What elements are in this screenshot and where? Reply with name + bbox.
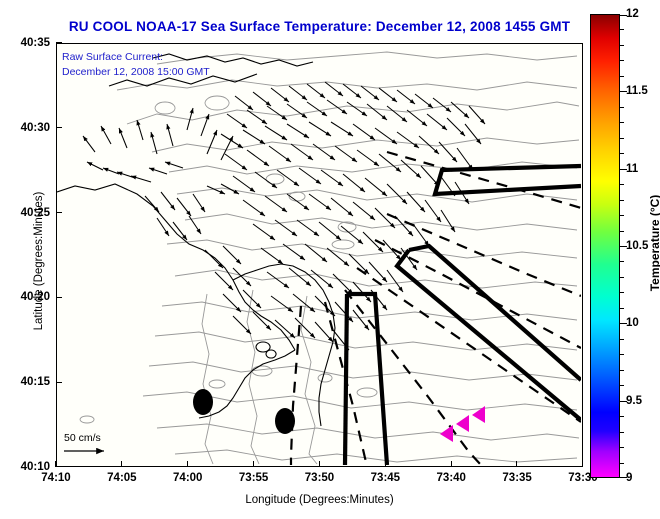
- colorbar-minor-tick: [620, 370, 624, 371]
- colorbar-minor-tick: [620, 122, 624, 123]
- y-tick-mark: [56, 127, 62, 128]
- coastline: [57, 54, 335, 426]
- annotation-line-1: Raw Surface Current:: [62, 50, 210, 65]
- colorbar-minor-tick: [620, 308, 624, 309]
- x-tick-mark: [451, 461, 452, 467]
- colorbar-tick-label: 9: [626, 472, 632, 484]
- magenta-triangle-1: [440, 425, 453, 442]
- x-tick-label: 73:55: [239, 472, 268, 484]
- station-dot-east: [275, 408, 295, 434]
- plot-annotation: Raw Surface Current: December 12, 2008 1…: [62, 50, 210, 80]
- y-tick-mark: [56, 382, 62, 383]
- colorbar-ticks: 1211.51110.5109.59: [590, 14, 620, 478]
- scale-bar-arrow-icon: [60, 444, 120, 458]
- colorbar-minor-tick: [620, 200, 624, 201]
- colorbar-minor-tick: [620, 385, 624, 386]
- x-tick-mark: [121, 461, 122, 467]
- page-title: RU COOL NOAA-17 Sea Surface Temperature:…: [56, 19, 583, 34]
- x-tick-mark: [319, 461, 320, 467]
- station-dot-west: [193, 389, 213, 415]
- bathymetry-contours: [80, 52, 579, 464]
- x-tick-label: 73:50: [305, 472, 334, 484]
- colorbar-tick-label: 12: [626, 8, 639, 20]
- colorbar-minor-tick: [620, 45, 624, 46]
- y-tick-mark: [56, 212, 62, 213]
- x-tick-label: 73:35: [502, 472, 531, 484]
- colorbar-minor-tick: [620, 447, 624, 448]
- x-tick-mark: [253, 461, 254, 467]
- colorbar-minor-tick: [620, 184, 624, 185]
- colorbar-minor-tick: [620, 231, 624, 232]
- colorbar-tick-label: 11: [626, 163, 638, 175]
- scale-bar: 50 cm/s: [60, 432, 120, 461]
- x-tick-mark: [582, 461, 583, 467]
- scale-bar-label: 50 cm/s: [64, 432, 120, 444]
- x-axis-label: Longitude (Degrees:Minutes): [56, 494, 583, 506]
- magenta-triangle-2: [456, 415, 469, 432]
- colorbar-minor-tick: [620, 292, 624, 293]
- annotation-line-2: December 12, 2008 15:00 GMT: [62, 65, 210, 80]
- colorbar-minor-tick: [620, 76, 624, 77]
- colorbar-tick-label: 9.5: [626, 395, 642, 407]
- colorbar-tick-label: 10.5: [626, 240, 648, 252]
- x-tick-label: 73:40: [437, 472, 466, 484]
- colorbar-minor-tick: [620, 416, 624, 417]
- colorbar-tick-label: 10: [626, 317, 639, 329]
- colorbar-tick-label: 11.5: [626, 85, 648, 97]
- map-plot-area[interactable]: [56, 43, 583, 467]
- y-tick-label: 40:30: [0, 122, 50, 134]
- surface-current-vectors: [83, 82, 485, 350]
- y-tick-mark: [56, 297, 62, 298]
- colorbar-minor-tick: [620, 261, 624, 262]
- track-markers: [440, 406, 485, 442]
- x-tick-label: 73:45: [371, 472, 400, 484]
- y-tick-label: 40:15: [0, 376, 50, 388]
- y-tick-label: 40:10: [0, 461, 50, 473]
- x-tick-mark: [385, 461, 386, 467]
- colorbar-minor-tick: [620, 339, 624, 340]
- y-tick-mark: [56, 466, 62, 467]
- colorbar-minor-tick: [620, 138, 624, 139]
- x-tick-mark: [187, 461, 188, 467]
- colorbar-minor-tick: [620, 107, 624, 108]
- map-canvas: [57, 44, 581, 465]
- colorbar-title: Temperature (°C): [648, 148, 660, 338]
- x-tick-label: 74:10: [41, 472, 70, 484]
- colorbar-minor-tick: [620, 60, 624, 61]
- colorbar-minor-tick: [620, 432, 624, 433]
- x-tick-mark: [516, 461, 517, 467]
- colorbar-minor-tick: [620, 153, 624, 154]
- colorbar-minor-tick: [620, 463, 624, 464]
- x-tick-label: 74:00: [173, 472, 202, 484]
- x-tick-label: 74:05: [107, 472, 136, 484]
- y-axis-label: Latitude (Degrees:Minutes): [33, 166, 45, 356]
- colorbar-minor-tick: [620, 215, 624, 216]
- colorbar-minor-tick: [620, 277, 624, 278]
- colorbar-minor-tick: [620, 29, 624, 30]
- y-tick-mark: [56, 42, 62, 43]
- y-tick-label: 40:35: [0, 37, 50, 49]
- shipping-lanes-dashed: [291, 152, 581, 465]
- colorbar-minor-tick: [620, 354, 624, 355]
